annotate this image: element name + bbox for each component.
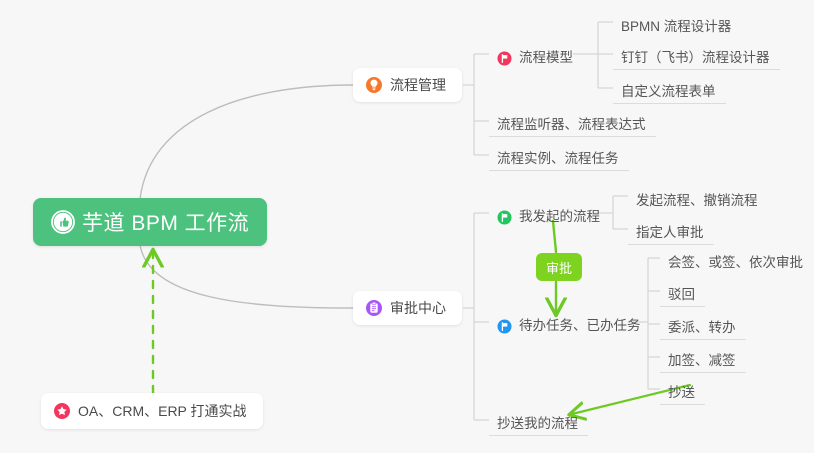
node-label: 抄送我的流程 [497,416,578,432]
node-reject[interactable]: 驳回 [660,277,705,307]
node-add-remove-sign[interactable]: 加签、减签 [660,343,746,373]
mindmap-canvas: 芋道 BPM 工作流 流程管理 流程模型 BPMN 流程设计器 钉钉（飞书 [0,0,814,453]
node-process-listener[interactable]: 流程监听器、流程表达式 [489,107,656,137]
node-bpmn-designer[interactable]: BPMN 流程设计器 [613,8,741,38]
node-my-initiated[interactable]: 我发起的流程 [489,198,610,228]
node-cc-to-me[interactable]: 抄送我的流程 [489,406,588,436]
node-label: 我发起的流程 [519,209,600,225]
node-label: 抄送 [668,385,695,401]
node-dingtalk-designer[interactable]: 钉钉（飞书）流程设计器 [613,40,780,70]
badge-label: 审批 [546,258,572,277]
edge-pm-trunk [463,54,489,155]
node-label: 流程监听器、流程表达式 [497,117,646,133]
branch-label: 流程管理 [390,75,446,95]
node-label: 委派、转办 [668,320,736,336]
edge-ac-trunk [463,213,489,420]
approval-badge[interactable]: 审批 [536,253,582,281]
node-assignee-approve[interactable]: 指定人审批 [628,215,714,245]
node-label: 待办任务、已办任务 [519,318,641,334]
node-label: 指定人审批 [636,225,704,241]
node-cc[interactable]: 抄送 [660,375,705,405]
node-start-cancel[interactable]: 发起流程、撤销流程 [628,182,768,212]
root-label: 芋道 BPM 工作流 [82,207,249,237]
flag-red-icon [497,51,512,66]
node-process-model[interactable]: 流程模型 [489,39,583,69]
branch-process-management[interactable]: 流程管理 [353,68,462,102]
node-delegate-transfer[interactable]: 委派、转办 [660,310,746,340]
node-multi-sign[interactable]: 会签、或签、依次审批 [660,244,813,274]
edge-root-to-process-management [140,85,353,199]
node-label: 发起流程、撤销流程 [636,193,758,209]
footnote-node[interactable]: OA、CRM、ERP 打通实战 [41,393,263,429]
node-todo-done[interactable]: 待办任务、已办任务 [489,307,651,337]
node-label: 自定义流程表单 [621,84,716,100]
footnote-label: OA、CRM、ERP 打通实战 [78,401,247,421]
thumbs-up-icon [51,210,75,234]
node-label: 流程模型 [519,50,573,66]
flag-green-icon [497,210,512,225]
node-custom-form[interactable]: 自定义流程表单 [613,74,726,104]
root-node[interactable]: 芋道 BPM 工作流 [33,198,267,246]
flag-blue-icon [497,319,512,334]
node-label: BPMN 流程设计器 [621,19,731,35]
node-label: 流程实例、流程任务 [497,151,619,167]
node-label: 加签、减签 [668,353,736,369]
edge-root-to-approval-center [140,245,353,308]
star-icon [53,402,71,420]
branch-approval-center[interactable]: 审批中心 [353,291,462,325]
node-label: 会签、或签、依次审批 [668,255,803,271]
node-label: 钉钉（飞书）流程设计器 [621,50,770,66]
branch-label: 审批中心 [390,298,446,318]
lightbulb-icon [365,76,383,94]
node-label: 驳回 [668,287,695,303]
clipboard-icon [365,299,383,317]
node-process-instance[interactable]: 流程实例、流程任务 [489,141,629,171]
